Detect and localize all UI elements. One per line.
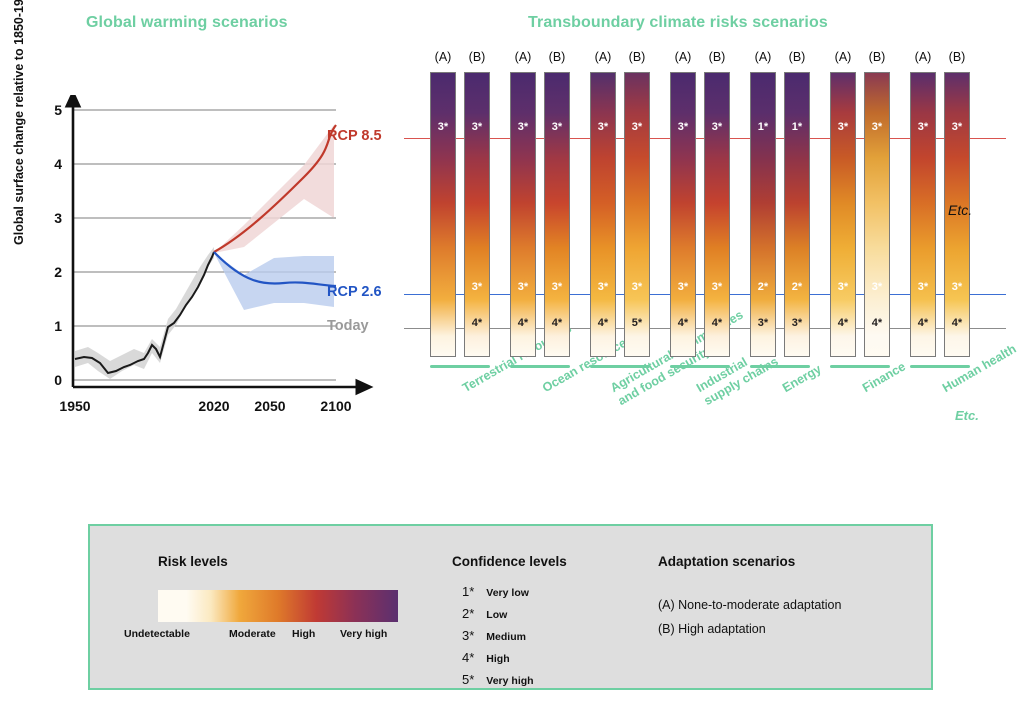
risk-gradient-fill	[785, 73, 809, 356]
adaptation-scenario-header: (A)	[430, 50, 456, 64]
risk-gradient-fill	[545, 73, 569, 356]
confidence-marker: 3*	[544, 282, 570, 293]
confidence-marker: 1*	[784, 122, 810, 133]
x-tick-2020: 2020	[198, 398, 229, 414]
sector-underline	[750, 365, 810, 368]
confidence-marker: 3*	[510, 282, 536, 293]
adaptation-scenarios-heading: Adaptation scenarios	[658, 554, 795, 569]
confidence-marker: 3*	[670, 122, 696, 133]
confidence-marker: 4*	[670, 318, 696, 329]
risk-tick-undetectable: Undetectable	[124, 628, 190, 640]
confidence-marker: 4*	[944, 318, 970, 329]
confidence-marker: 2*	[784, 282, 810, 293]
risk-gradient-bar[interactable]	[704, 72, 730, 357]
risk-gradient-bar[interactable]	[510, 72, 536, 357]
risk-gradient-bar[interactable]	[430, 72, 456, 357]
confidence-marker: 4*	[910, 318, 936, 329]
risk-gradient-fill	[705, 73, 729, 356]
confidence-marker: 4*	[830, 318, 856, 329]
risk-gradient-bar[interactable]	[670, 72, 696, 357]
confidence-marker: 3*	[624, 122, 650, 133]
etc-right-label: Etc.	[948, 202, 972, 218]
rcp85-uncertainty-band	[214, 125, 334, 253]
confidence-marker: 4*	[510, 318, 536, 329]
risk-gradient-fill	[431, 73, 455, 356]
confidence-marker: 3*	[670, 282, 696, 293]
confidence-marker: 3*	[944, 122, 970, 133]
rcp26-uncertainty-band	[214, 253, 334, 310]
risk-gradient-fill	[625, 73, 649, 356]
confidence-marker: 3*	[830, 122, 856, 133]
y-tick-1: 1	[54, 318, 62, 334]
sector-underline	[830, 365, 890, 368]
confidence-label: Very low	[486, 587, 529, 599]
y-tick-3: 3	[54, 210, 62, 226]
risk-gradient-fill	[511, 73, 535, 356]
adaptation-scenario-header: (A)	[670, 50, 696, 64]
risk-gradient-fill	[911, 73, 935, 356]
confidence-levels-heading: Confidence levels	[452, 554, 567, 569]
sector-underline	[910, 365, 970, 368]
adaptation-scenario-header: (B)	[544, 50, 570, 64]
etc-below-label: Etc.	[955, 408, 979, 423]
warming-chart-svg: 5 4 3 2 1 0 1950 2020 2050 2100	[18, 95, 378, 425]
risk-tick-moderate: Moderate	[229, 628, 276, 640]
risk-gradient-fill	[831, 73, 855, 356]
confidence-marker: 3*	[464, 122, 490, 133]
confidence-marker: 3*	[704, 122, 730, 133]
confidence-marker: 4*	[704, 318, 730, 329]
confidence-stars: 1*	[462, 584, 474, 599]
rcp26-label: RCP 2.6	[327, 284, 382, 300]
confidence-marker: 4*	[464, 318, 490, 329]
confidence-marker: 3*	[910, 282, 936, 293]
confidence-marker: 4*	[544, 318, 570, 329]
risk-gradient-bar[interactable]	[784, 72, 810, 357]
x-tick-2100: 2100	[320, 398, 351, 414]
gridlines	[73, 110, 336, 380]
adaptation-scenario-header: (A)	[830, 50, 856, 64]
adaptation-scenario-header: (B)	[784, 50, 810, 64]
confidence-level-row: 5*Very high	[462, 672, 534, 687]
confidence-stars: 2*	[462, 606, 474, 621]
confidence-label: Medium	[486, 631, 526, 643]
confidence-marker: 3*	[510, 122, 536, 133]
risk-tick-high: High	[292, 628, 315, 640]
sector-underline	[510, 365, 570, 368]
adaptation-scenario-header: (A)	[750, 50, 776, 64]
confidence-marker: 3*	[590, 282, 616, 293]
confidence-marker: 3*	[784, 318, 810, 329]
confidence-marker: 2*	[750, 282, 776, 293]
adaptation-scenario-header: (A)	[590, 50, 616, 64]
y-tick-2: 2	[54, 264, 62, 280]
confidence-marker: 3*	[624, 282, 650, 293]
confidence-label: High	[486, 653, 509, 665]
risk-gradient-fill	[591, 73, 615, 356]
confidence-marker: 3*	[590, 122, 616, 133]
risk-gradient-bar[interactable]	[910, 72, 936, 357]
confidence-level-row: 1*Very low	[462, 584, 529, 599]
risk-gradient-bar[interactable]	[464, 72, 490, 357]
confidence-marker: 3*	[944, 282, 970, 293]
risk-gradient-fill	[751, 73, 775, 356]
y-tick-0: 0	[54, 372, 62, 388]
right-panel-title: Transboundary climate risks scenarios	[528, 14, 828, 32]
confidence-marker: 1*	[750, 122, 776, 133]
confidence-stars: 3*	[462, 628, 474, 643]
adaptation-item-b: (B) High adaptation	[658, 622, 766, 636]
adaptation-item-a: (A) None-to-moderate adaptation	[658, 598, 841, 612]
x-tick-2050: 2050	[254, 398, 285, 414]
risk-gradient-bar[interactable]	[864, 72, 890, 357]
risk-gradient-bar[interactable]	[590, 72, 616, 357]
adaptation-scenario-header: (B)	[864, 50, 890, 64]
x-tick-1950: 1950	[59, 398, 90, 414]
y-tick-4: 4	[54, 156, 62, 172]
confidence-marker: 3*	[910, 122, 936, 133]
risk-level-gradient-scale	[158, 590, 398, 622]
adaptation-scenario-header: (A)	[510, 50, 536, 64]
risk-gradient-bar[interactable]	[624, 72, 650, 357]
risk-gradient-fill	[671, 73, 695, 356]
confidence-stars: 5*	[462, 672, 474, 687]
risk-gradient-bar[interactable]	[544, 72, 570, 357]
y-tick-5: 5	[54, 102, 62, 118]
legend-box: Risk levels Undetectable Moderate High V…	[88, 524, 933, 690]
confidence-marker: 3*	[544, 122, 570, 133]
risk-levels-heading: Risk levels	[158, 554, 228, 569]
y-axis-label: Global surface change relative to 1850-1…	[12, 0, 27, 245]
risk-gradient-bar[interactable]	[750, 72, 776, 357]
rcp85-label: RCP 8.5	[327, 128, 382, 144]
risk-tick-very-high: Very high	[340, 628, 387, 640]
confidence-marker: 3*	[864, 282, 890, 293]
confidence-level-row: 4*High	[462, 650, 510, 665]
confidence-stars: 4*	[462, 650, 474, 665]
confidence-level-row: 3*Medium	[462, 628, 526, 643]
confidence-marker: 5*	[624, 318, 650, 329]
risk-gradient-fill	[465, 73, 489, 356]
confidence-marker: 4*	[864, 318, 890, 329]
confidence-label: Very high	[486, 675, 533, 687]
risk-gradient-bar[interactable]	[830, 72, 856, 357]
confidence-level-row: 2*Low	[462, 606, 507, 621]
confidence-label: Low	[486, 609, 507, 621]
adaptation-scenario-header: (B)	[624, 50, 650, 64]
adaptation-scenario-header: (B)	[944, 50, 970, 64]
confidence-marker: 3*	[864, 122, 890, 133]
confidence-marker: 4*	[590, 318, 616, 329]
adaptation-scenario-header: (B)	[464, 50, 490, 64]
confidence-marker: 3*	[464, 282, 490, 293]
left-panel-title: Global warming scenarios	[86, 14, 288, 32]
confidence-marker: 3*	[830, 282, 856, 293]
sector-underline	[430, 365, 490, 368]
global-warming-line-chart: Global surface change relative to 1850-1…	[18, 95, 378, 425]
adaptation-scenario-header: (A)	[910, 50, 936, 64]
confidence-marker: 3*	[750, 318, 776, 329]
transboundary-risk-bars: (A)3*(B)3*3*4*Terrestrial resources(A)3*…	[404, 50, 1004, 390]
risk-gradient-fill	[865, 73, 889, 356]
today-label: Today	[327, 318, 369, 334]
adaptation-scenario-header: (B)	[704, 50, 730, 64]
confidence-marker: 3*	[430, 122, 456, 133]
confidence-marker: 3*	[704, 282, 730, 293]
